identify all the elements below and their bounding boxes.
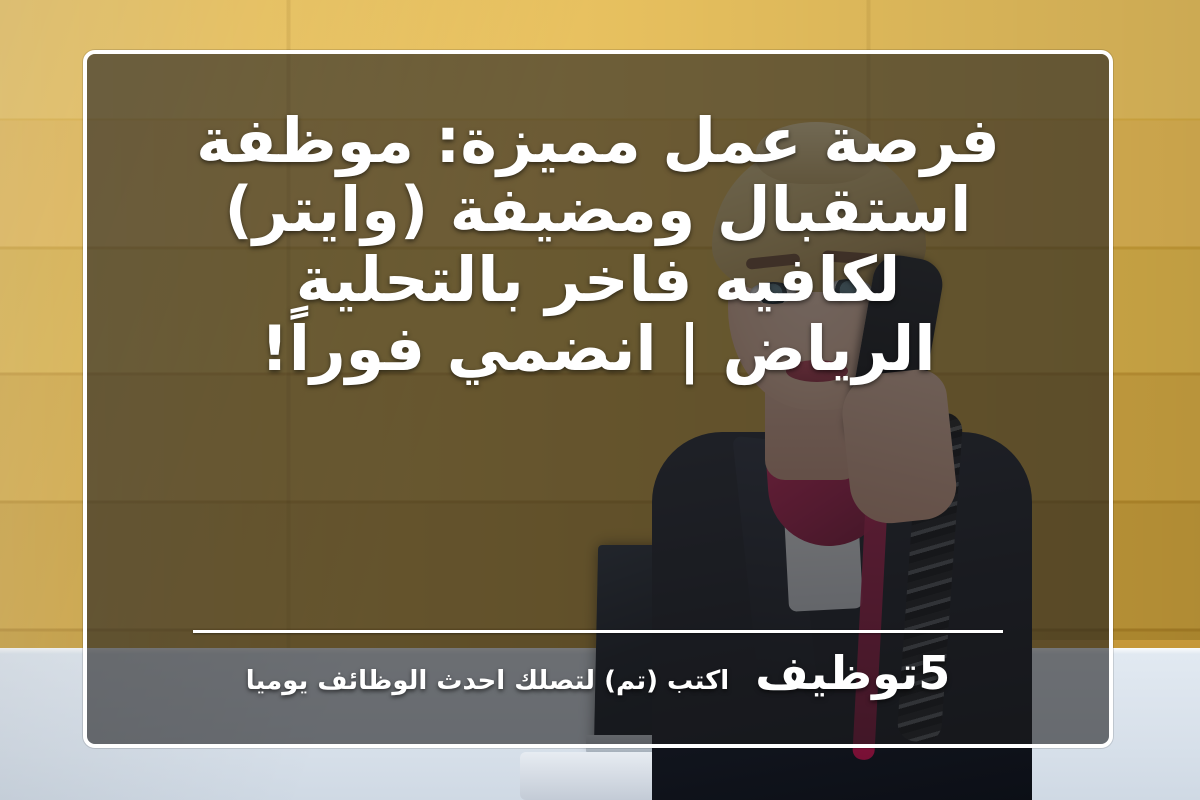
brand-name: 5توظيف [755,650,950,696]
page-title: فرصة عمل مميزة: موظفة استقبال ومضيفة (وا… [143,106,1053,384]
divider-row [87,630,1109,633]
text-overlay-card: فرصة عمل مميزة: موظفة استقبال ومضيفة (وا… [83,50,1113,748]
job-ad-poster: فرصة عمل مميزة: موظفة استقبال ومضيفة (وا… [0,0,1200,800]
card-content: فرصة عمل مميزة: موظفة استقبال ومضيفة (وا… [87,54,1109,744]
subscribe-tagline: اكتب (تم) لتصلك احدث الوظائف يوميا [246,668,729,694]
horizontal-divider [193,630,1003,633]
footer-row: 5توظيف اكتب (تم) لتصلك احدث الوظائف يومي… [87,650,1109,696]
